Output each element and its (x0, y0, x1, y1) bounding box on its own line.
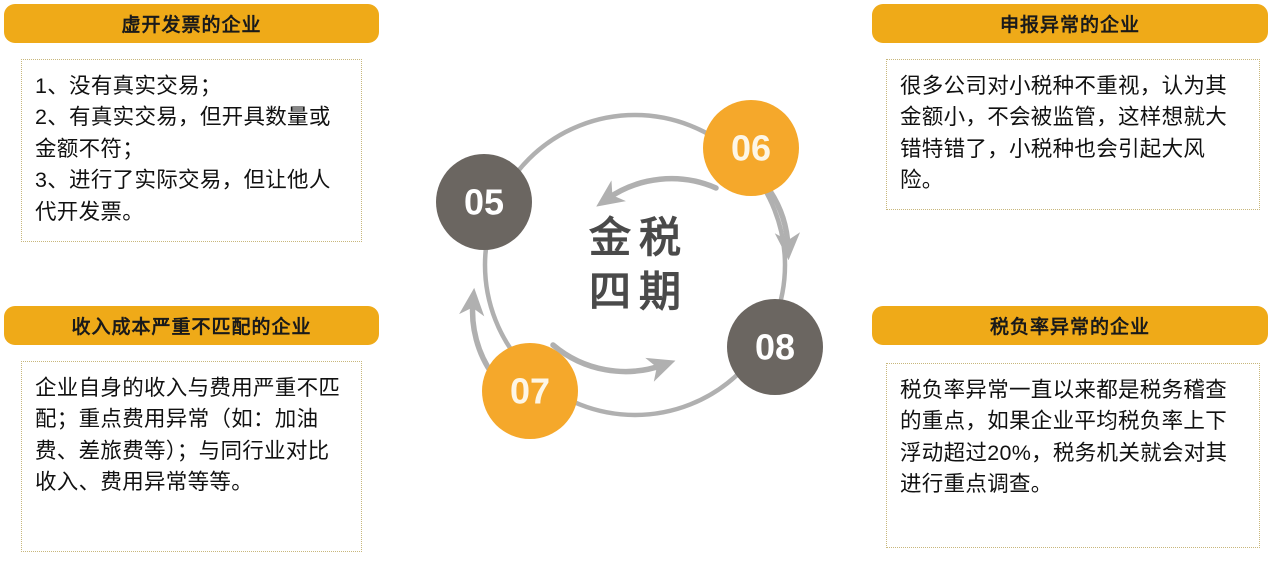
cycle-node-05[interactable]: 05 (436, 154, 532, 250)
cycle-node-06[interactable]: 06 (703, 100, 799, 196)
panel-bottom-right-line-1: 税负率异常一直以来都是税务稽查的重点，如果企业平均税负率上下浮动超过20%，税务… (900, 375, 1247, 501)
arrow-06-to-05 (607, 179, 716, 199)
panel-bottom-right-header: 税负率异常的企业 (872, 306, 1268, 345)
cycle-node-08-label: 08 (755, 327, 795, 368)
panel-top-right-line-1: 很多公司对小税种不重视，认为其金额小，不会被监管，这样想就大错特错了，小税种也会… (900, 71, 1247, 197)
panel-top-left-line-1: 1、没有真实交易； (35, 71, 349, 102)
panel-bottom-left-line-1: 企业自身的收入与费用严重不匹配；重点费用异常（如：加油费、差旅费等）；与同行业对… (35, 373, 349, 499)
panel-bottom-left-header: 收入成本严重不匹配的企业 (4, 306, 379, 345)
panel-top-right-header: 申报异常的企业 (872, 4, 1268, 43)
panel-bottom-left-title: 收入成本严重不匹配的企业 (71, 312, 311, 339)
cycle-node-08[interactable]: 08 (727, 299, 823, 395)
panel-bottom-right-body: 税负率异常一直以来都是税务稽查的重点，如果企业平均税负率上下浮动超过20%，税务… (886, 363, 1260, 548)
panel-bottom-left: 收入成本严重不匹配的企业 企业自身的收入与费用严重不匹配；重点费用异常（如：加油… (4, 306, 379, 552)
panel-bottom-right-title: 税负率异常的企业 (990, 312, 1150, 339)
cycle-node-07[interactable]: 07 (482, 343, 578, 439)
panel-top-right-title: 申报异常的企业 (1000, 10, 1140, 37)
panel-top-left-header: 虚开发票的企业 (4, 4, 379, 43)
center-cycle-diagram: 05 06 07 08 金税 四期 (420, 55, 850, 475)
panel-top-left: 虚开发票的企业 1、没有真实交易； 2、有真实交易，但开具数量或金额不符； 3、… (4, 4, 379, 242)
panel-top-left-line-2: 2、有真实交易，但开具数量或金额不符； (35, 102, 349, 165)
cycle-node-05-label: 05 (464, 182, 504, 223)
panel-bottom-right: 税负率异常的企业 税负率异常一直以来都是税务稽查的重点，如果企业平均税负率上下浮… (872, 306, 1268, 548)
panel-top-left-line-3: 3、进行了实际交易，但让他人代开发票。 (35, 165, 349, 228)
cycle-node-06-label: 06 (731, 128, 771, 169)
panel-top-right-body: 很多公司对小税种不重视，认为其金额小，不会被监管，这样想就大错特错了，小税种也会… (886, 59, 1260, 210)
panel-top-left-body: 1、没有真实交易； 2、有真实交易，但开具数量或金额不符； 3、进行了实际交易，… (21, 59, 362, 242)
panel-bottom-left-body: 企业自身的收入与费用严重不匹配；重点费用异常（如：加油费、差旅费等）；与同行业对… (21, 361, 362, 552)
panel-top-left-title: 虚开发票的企业 (121, 10, 261, 37)
arrow-07-to-05 (473, 301, 493, 375)
panel-top-right: 申报异常的企业 很多公司对小税种不重视，认为其金额小，不会被监管，这样想就大错特… (872, 4, 1268, 210)
cycle-node-07-label: 07 (510, 371, 550, 412)
